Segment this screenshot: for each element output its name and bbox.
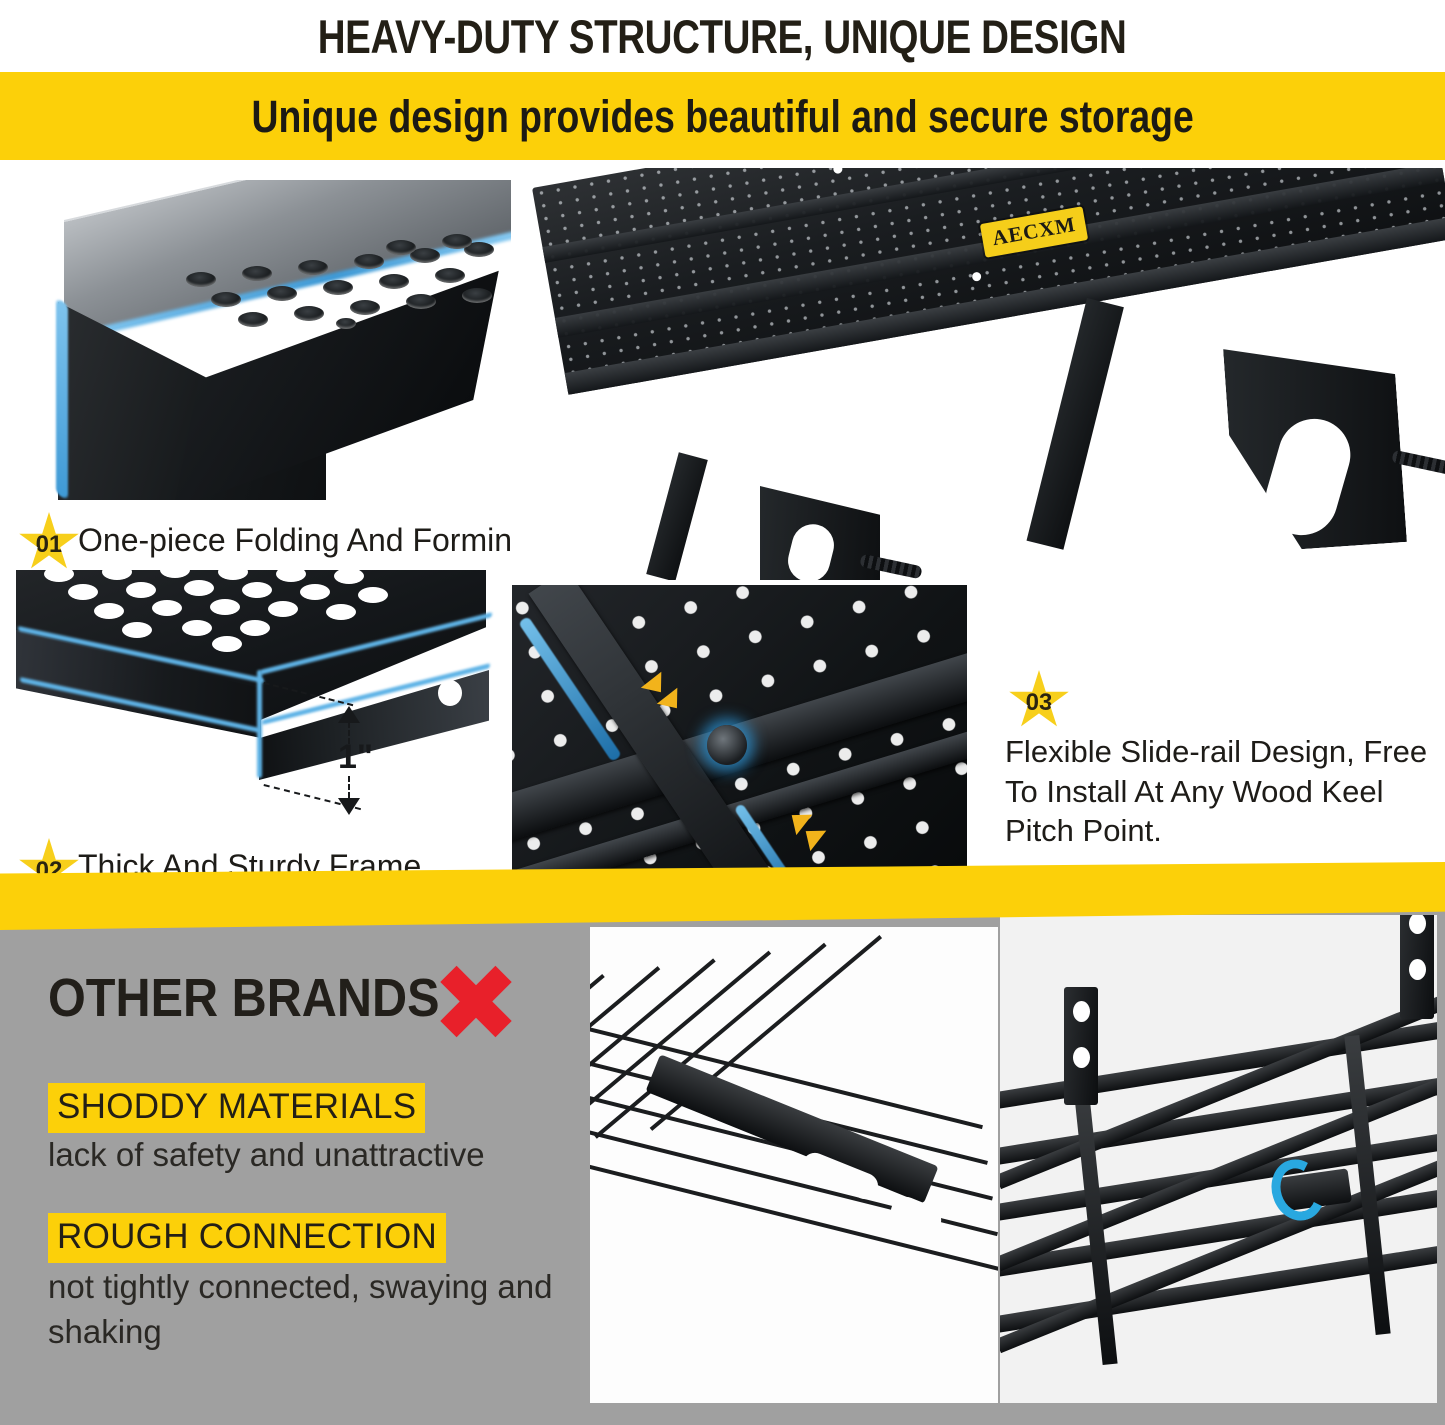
bracket-right (1027, 298, 1124, 550)
wall-mount-bracket-right (1400, 915, 1434, 1019)
dimension-arrow-up (338, 706, 360, 723)
perforation-holes (6, 180, 511, 500)
feature-number-01: 01 (36, 531, 63, 559)
photo-thick-frame-corner: 1" (6, 570, 511, 820)
header-title-band: HEAVY-DUTY STRUCTURE, UNIQUE DESIGN (0, 0, 1445, 72)
photo-other-brand-wire-shelf (590, 927, 998, 1403)
dimension-label: 1" (338, 738, 373, 777)
feature-caption-03: Flexible Slide-rail Design, Free To Inst… (1005, 732, 1435, 851)
page-subtitle: Unique design provides beautiful and sec… (251, 94, 1193, 139)
comparison-title: OTHER BRANDS (48, 967, 440, 1029)
x-mark-icon (432, 957, 520, 1045)
drawback-detail-1: lack of safety and unattractive (48, 1133, 568, 1178)
comparison-section: OTHER BRANDS SHODDY MATERIALS lack of sa… (0, 905, 1445, 1425)
header-subtitle-band: Unique design provides beautiful and sec… (0, 72, 1445, 160)
mounting-bolt (707, 725, 747, 765)
photo-slide-rail (512, 585, 967, 897)
photo-hero-shelf: AECXM (512, 168, 1445, 580)
drawback-heading-1: SHODDY MATERIALS (48, 1083, 425, 1133)
feature-badge-01: 01 (18, 512, 80, 574)
features-section: 01 One-piece Folding And Forming (0, 160, 1445, 905)
dimension-arrow-down (338, 798, 360, 815)
feature-caption-01: One-piece Folding And Forming (78, 522, 530, 559)
bracket-left (646, 452, 708, 580)
photo-one-piece-channel (6, 180, 511, 500)
feature-badge-03: 03 (1008, 670, 1070, 732)
page-title: HEAVY-DUTY STRUCTURE, UNIQUE DESIGN (318, 13, 1127, 60)
wall-mount-bracket-left (1064, 987, 1098, 1105)
drawback-heading-2: ROUGH CONNECTION (48, 1213, 446, 1263)
photo-other-brand-slat-rack (1000, 915, 1437, 1403)
drawback-detail-2: not tightly connected, swaying and shaki… (48, 1265, 568, 1354)
feature-number-03: 03 (1026, 689, 1053, 717)
